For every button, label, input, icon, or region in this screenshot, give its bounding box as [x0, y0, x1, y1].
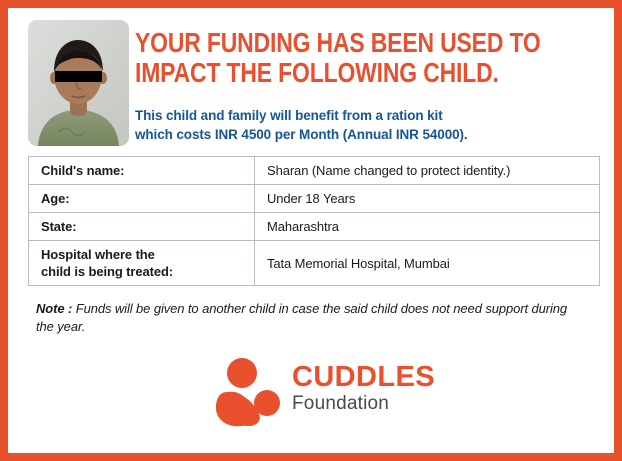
row-label-hospital: Hospital where the child is being treate… [29, 241, 255, 286]
card-inner: Your funding has been used to impact the… [8, 8, 614, 453]
footnote: Note : Funds will be given to another ch… [36, 300, 581, 336]
row-label-child-name: Child's name: [29, 157, 255, 185]
table-row: Child's name: Sharan (Name changed to pr… [29, 157, 600, 185]
row-value-state: Maharashtra [255, 213, 600, 241]
logo-wordmark: CUDDLES Foundation [292, 362, 442, 415]
row-value-child-name: Sharan (Name changed to protect identity… [255, 157, 600, 185]
row-value-age: Under 18 Years [255, 185, 600, 213]
footnote-text: Funds will be given to another child in … [36, 301, 567, 334]
subtitle-line-1: This child and family will benefit from … [135, 106, 595, 125]
row-label-hospital-line-1: Hospital where the [41, 246, 254, 263]
child-details-table: Child's name: Sharan (Name changed to pr… [28, 156, 600, 286]
child-photo [28, 20, 129, 146]
subtitle-line-2: which costs INR 4500 per Month (Annual I… [135, 125, 595, 144]
logo-word-cuddles: CUDDLES [292, 362, 442, 393]
row-value-hospital: Tata Memorial Hospital, Mumbai [255, 241, 600, 286]
headline-line-2: impact the following child. [135, 58, 520, 88]
table-row: Age: Under 18 Years [29, 185, 600, 213]
page-title: Your funding has been used to impact the… [135, 28, 520, 88]
footnote-prefix: Note : [36, 301, 72, 316]
table-row: Hospital where the child is being treate… [29, 241, 600, 286]
cuddles-parent-and-child-icon [214, 356, 286, 428]
child-photo-image [28, 20, 129, 146]
logo-word-foundation: Foundation [292, 393, 442, 415]
headline-line-1: Your funding has been used to [135, 28, 520, 58]
cuddles-foundation-logo: CUDDLES Foundation [214, 356, 444, 428]
row-label-age: Age: [29, 185, 255, 213]
certificate-card: Your funding has been used to impact the… [0, 0, 622, 461]
row-label-hospital-line-2: child is being treated: [41, 263, 254, 280]
eyes-redaction-bar [55, 71, 102, 82]
subtitle: This child and family will benefit from … [135, 106, 595, 144]
table-row: State: Maharashtra [29, 213, 600, 241]
row-label-state: State: [29, 213, 255, 241]
